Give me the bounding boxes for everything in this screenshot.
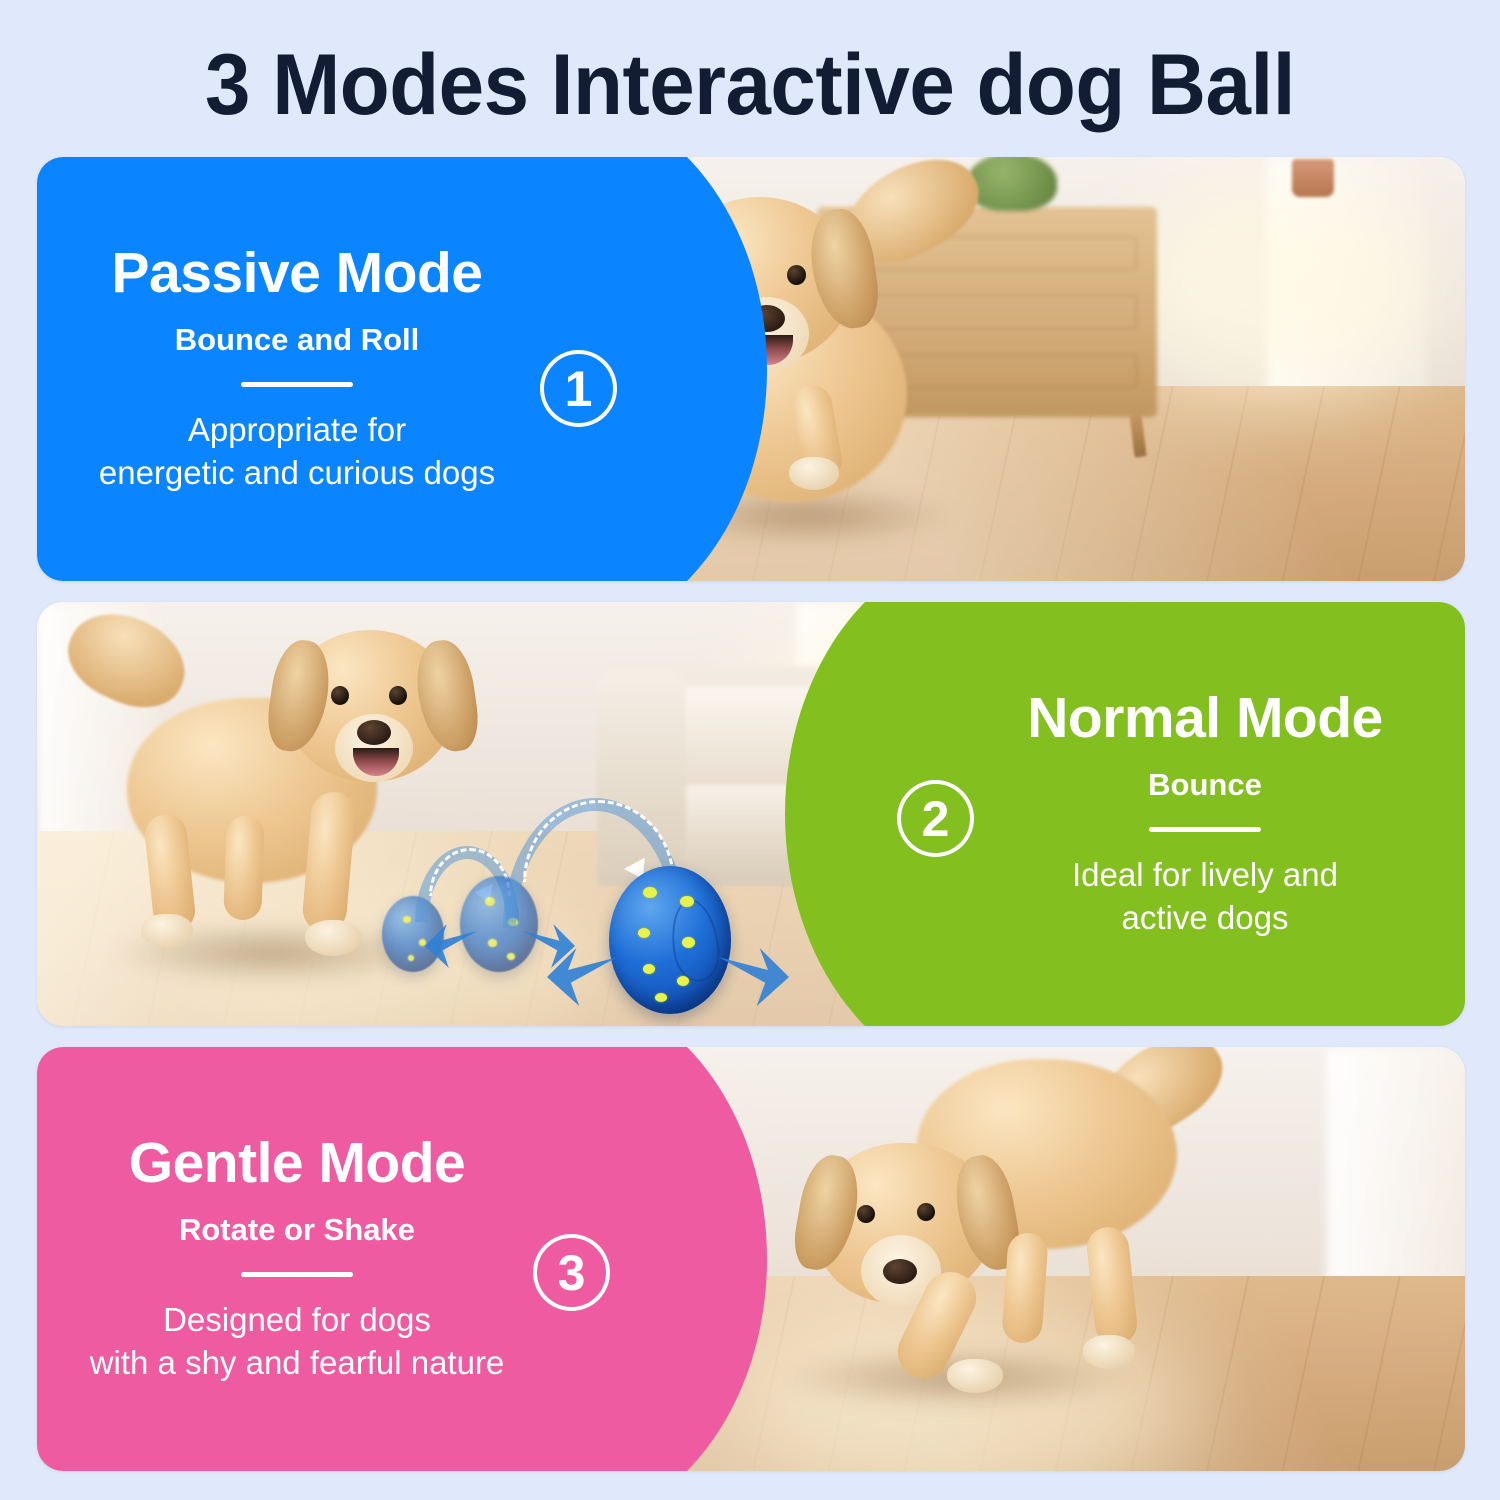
mode-heading: Passive Mode (111, 244, 482, 303)
step-number-badge-1: 1 (540, 350, 617, 427)
divider-rule (1149, 827, 1261, 832)
mode-description-line-1: Designed for dogs (163, 1299, 431, 1341)
mode-heading: Gentle Mode (129, 1134, 466, 1193)
product-ball (609, 866, 731, 1014)
mode-panel-normal: Normal Mode Bounce Ideal for lively and … (37, 602, 1465, 1026)
page-title: 3 Modes Interactive dog Ball (38, 30, 1463, 140)
mode-panel-gentle: Gentle Mode Rotate or Shake Designed for… (37, 1047, 1465, 1471)
mode-text-normal: Normal Mode Bounce Ideal for lively and … (945, 602, 1465, 1026)
mode-panel-passive: Passive Mode Bounce and Roll Appropriate… (37, 157, 1465, 581)
mode-subheading: Rotate or Shake (179, 1212, 415, 1248)
mode-description-line-1: Ideal for lively and (1072, 854, 1338, 896)
divider-rule (241, 382, 353, 387)
step-number-badge-2: 2 (897, 780, 974, 857)
step-number-badge-3: 3 (533, 1234, 610, 1311)
mode-text-gentle: Gentle Mode Rotate or Shake Designed for… (37, 1047, 557, 1471)
mode-subheading: Bounce and Roll (175, 322, 420, 358)
mode-description-line-2: with a shy and fearful nature (90, 1342, 505, 1384)
mode-subheading: Bounce (1148, 767, 1262, 803)
divider-rule (241, 1272, 353, 1277)
mode-description-line-2: energetic and curious dogs (99, 452, 495, 494)
mode-description-line-2: active dogs (1122, 897, 1289, 939)
mode-text-passive: Passive Mode Bounce and Roll Appropriate… (37, 157, 557, 581)
mode-description-line-1: Appropriate for (188, 409, 406, 451)
mode-heading: Normal Mode (1027, 689, 1383, 748)
